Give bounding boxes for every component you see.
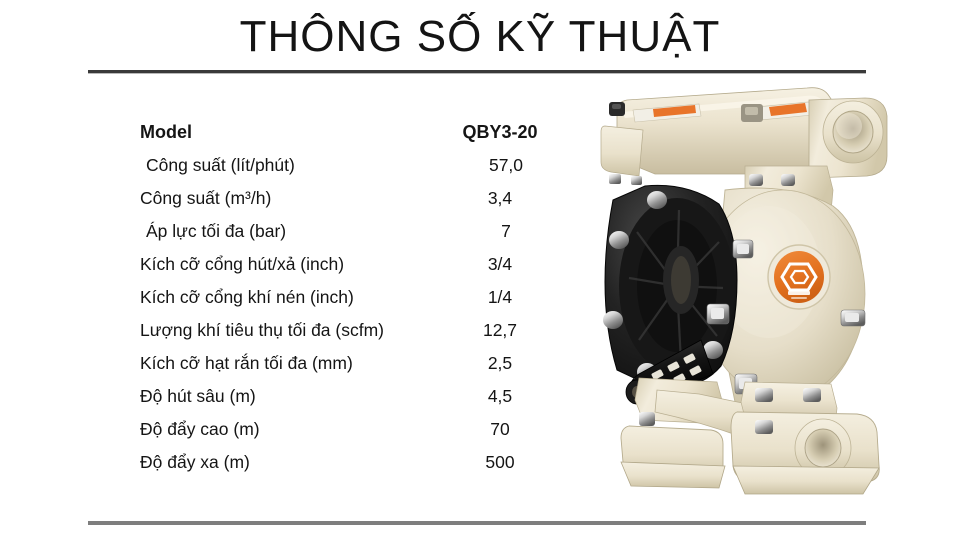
table-row: Kích cỡ cổng hút/xả (inch) 3/4	[140, 254, 560, 287]
spec-label: Công suất (m³/h)	[140, 188, 440, 209]
pump-product-image	[595, 82, 895, 497]
pump-brand-badge	[768, 245, 830, 309]
column-header-value: QBY3-20	[440, 122, 560, 143]
spec-label: Áp lực tối đa (bar)	[140, 221, 446, 242]
title-divider-bottom	[88, 521, 866, 525]
table-row: Áp lực tối đa (bar) 7	[140, 221, 560, 254]
spec-value: 7	[446, 221, 566, 242]
column-header-model: Model	[140, 122, 440, 143]
spec-label: Công suất (lít/phút)	[140, 155, 446, 176]
spec-value: 57,0	[446, 155, 566, 176]
table-row: Công suất (lít/phút) 57,0	[140, 155, 560, 188]
spec-label: Kích cỡ cổng khí nén (inch)	[140, 287, 440, 308]
spec-label: Độ đẩy cao (m)	[140, 419, 440, 440]
spec-value: 1/4	[440, 287, 560, 308]
spec-value: 2,5	[440, 353, 560, 374]
spec-value: 500	[440, 452, 560, 473]
spec-label: Độ đẩy xa (m)	[140, 452, 440, 473]
table-row: Công suất (m³/h) 3,4	[140, 188, 560, 221]
table-row: Kích cỡ hạt rắn tối đa (mm) 2,5	[140, 353, 560, 386]
title-divider-top	[88, 70, 866, 74]
spec-table: Model QBY3-20 Công suất (lít/phút) 57,0 …	[140, 122, 560, 485]
spec-label: Kích cỡ cổng hút/xả (inch)	[140, 254, 440, 275]
table-row: Lượng khí tiêu thụ tối đa (scfm) 12,7	[140, 320, 560, 353]
spec-label: Kích cỡ hạt rắn tối đa (mm)	[140, 353, 440, 374]
spec-value: 12,7	[440, 320, 560, 341]
table-row: Độ hút sâu (m) 4,5	[140, 386, 560, 419]
spec-label: Lượng khí tiêu thụ tối đa (scfm)	[140, 320, 440, 341]
spec-value: 4,5	[440, 386, 560, 407]
table-row: Kích cỡ cổng khí nén (inch) 1/4	[140, 287, 560, 320]
spec-value: 3,4	[440, 188, 560, 209]
table-row: Độ đẩy cao (m) 70	[140, 419, 560, 452]
page-title: THÔNG SỐ KỸ THUẬT	[0, 12, 960, 63]
spec-value: 70	[440, 419, 560, 440]
table-header-row: Model QBY3-20	[140, 122, 560, 155]
spec-value: 3/4	[440, 254, 560, 275]
pump-base-foot-right	[731, 412, 879, 494]
table-row: Độ đẩy xa (m) 500	[140, 452, 560, 485]
spec-label: Độ hút sâu (m)	[140, 386, 440, 407]
